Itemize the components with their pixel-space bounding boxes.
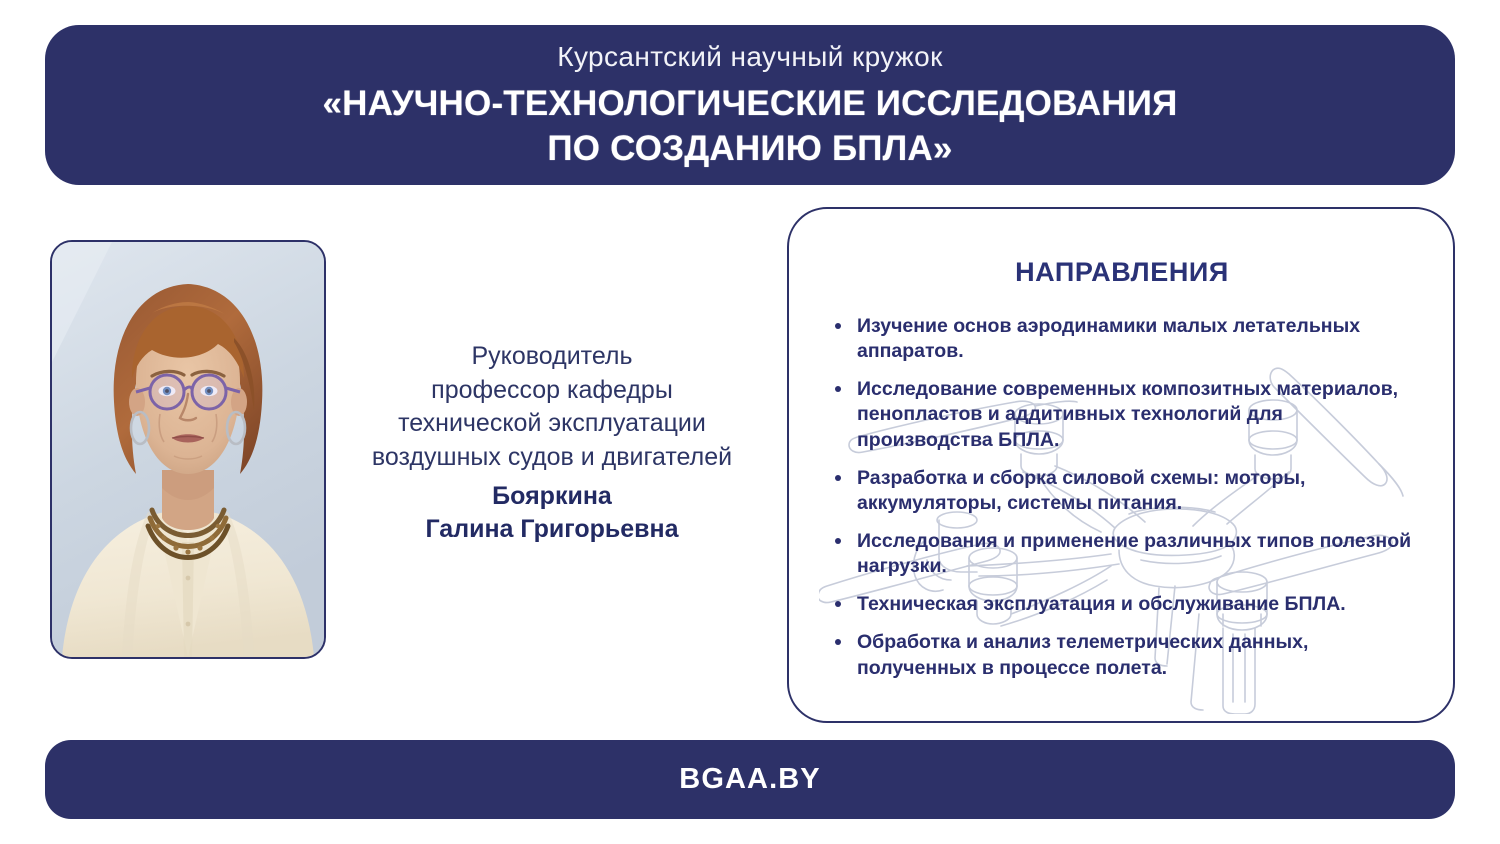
header-kicker: Курсантский научный кружок: [557, 42, 943, 73]
directions-panel: НАПРАВЛЕНИЯ Изучение основ аэродинамики …: [787, 207, 1455, 723]
website-url: BGAA.BY: [679, 763, 820, 796]
portrait-photo-image: [52, 242, 324, 657]
directions-list: Изучение основ аэродинамики малых летате…: [829, 314, 1415, 681]
list-item: Разработка и сборка силовой схемы: мотор…: [829, 466, 1415, 516]
list-item: Исследования и применение различных типо…: [829, 529, 1415, 579]
list-item: Техническая эксплуатация и обслуживание …: [829, 592, 1415, 617]
slide-root: Курсантский научный кружок «НАУЧНО-ТЕХНО…: [0, 0, 1500, 844]
header-banner: Курсантский научный кружок «НАУЧНО-ТЕХНО…: [45, 25, 1455, 185]
supervisor-photo: [50, 240, 326, 659]
directions-heading: НАПРАВЛЕНИЯ: [829, 257, 1415, 288]
supervisor-name: Бояркина Галина Григорьевна: [352, 480, 752, 547]
footer-banner: BGAA.BY: [45, 740, 1455, 819]
list-item: Обработка и анализ телеметрических данны…: [829, 630, 1415, 680]
list-item: Исследование современных композитных мат…: [829, 377, 1415, 452]
page-title: «НАУЧНО-ТЕХНОЛОГИЧЕСКИЕ ИССЛЕДОВАНИЯ ПО …: [323, 82, 1178, 172]
list-item: Изучение основ аэродинамики малых летате…: [829, 314, 1415, 364]
supervisor-info: Руководитель профессор кафедры техническ…: [352, 340, 752, 547]
supervisor-role: Руководитель профессор кафедры техническ…: [352, 340, 752, 474]
